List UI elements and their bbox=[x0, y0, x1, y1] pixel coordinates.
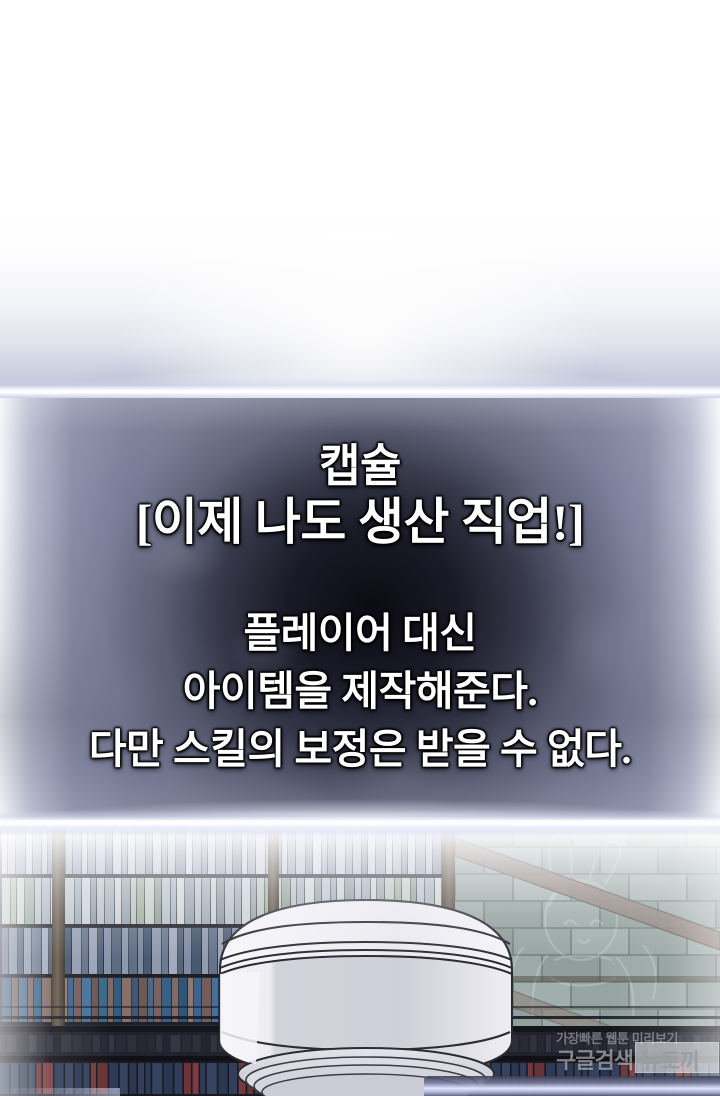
book-spine bbox=[164, 1035, 169, 1052]
caption-body-line3: 다만 스킬의 보정은 받을 수 없다. bbox=[0, 720, 720, 778]
book-spine bbox=[127, 1035, 136, 1052]
book-spine bbox=[120, 1063, 128, 1094]
caption-body-line2: 아이템을 제작해준다. bbox=[0, 662, 720, 720]
book-spine bbox=[174, 1063, 182, 1094]
book-spine bbox=[93, 1035, 100, 1052]
book-spine bbox=[47, 1035, 53, 1052]
book-spine bbox=[170, 1035, 180, 1052]
book-spine bbox=[116, 1035, 126, 1052]
top-light-veil bbox=[0, 0, 720, 400]
book-spine bbox=[109, 1035, 114, 1052]
book-spine bbox=[148, 1035, 155, 1052]
book-spine bbox=[546, 1035, 551, 1052]
book-spine bbox=[0, 1035, 5, 1052]
book-spine bbox=[7, 1035, 17, 1052]
bottom-blue-glow bbox=[424, 1076, 720, 1096]
book-spine bbox=[73, 1035, 82, 1052]
book-spine bbox=[200, 1063, 205, 1094]
book-spine bbox=[156, 1035, 162, 1052]
book-spine bbox=[129, 1063, 136, 1094]
caption-title-line2: [이제 나도 생산 직업!] bbox=[0, 493, 720, 552]
book-spine bbox=[29, 1035, 37, 1052]
book-spine bbox=[61, 1035, 71, 1052]
caption-body: 플레이어 대신 아이템을 제작해준다. 다만 스킬의 보정은 받을 수 없다. bbox=[0, 604, 720, 779]
book-spine bbox=[18, 1035, 27, 1052]
book-spine bbox=[193, 1063, 199, 1094]
watermark-badge-text: 뉴토끼 bbox=[641, 1044, 699, 1076]
book-spine bbox=[146, 1063, 151, 1094]
book-spine bbox=[164, 1063, 173, 1094]
book-spine bbox=[184, 1063, 191, 1094]
bottom-left-glow bbox=[0, 1088, 120, 1096]
book-spine bbox=[182, 1035, 191, 1052]
book-spine bbox=[83, 1035, 91, 1052]
book-spine bbox=[530, 1035, 537, 1052]
caption-title: 캡슐 [이제 나도 생산 직업!] bbox=[0, 440, 720, 552]
book-spine bbox=[193, 1035, 201, 1052]
book-spine bbox=[538, 1035, 544, 1052]
book-spine bbox=[138, 1035, 146, 1052]
book-spine bbox=[38, 1035, 45, 1052]
watermark-search-label: 구글검색 bbox=[556, 1043, 633, 1075]
capsule-machine bbox=[208, 898, 524, 1096]
book-spine bbox=[138, 1063, 144, 1094]
caption-body-line1: 플레이어 대신 bbox=[0, 604, 720, 662]
book-spine bbox=[102, 1035, 108, 1052]
webtoon-panel: 캡슐 [이제 나도 생산 직업!] 플레이어 대신 아이템을 제작해준다. 다만… bbox=[0, 0, 720, 1096]
book-spine bbox=[152, 1063, 162, 1094]
caption-title-line1: 캡슐 bbox=[0, 440, 720, 493]
book-spine bbox=[55, 1035, 60, 1052]
